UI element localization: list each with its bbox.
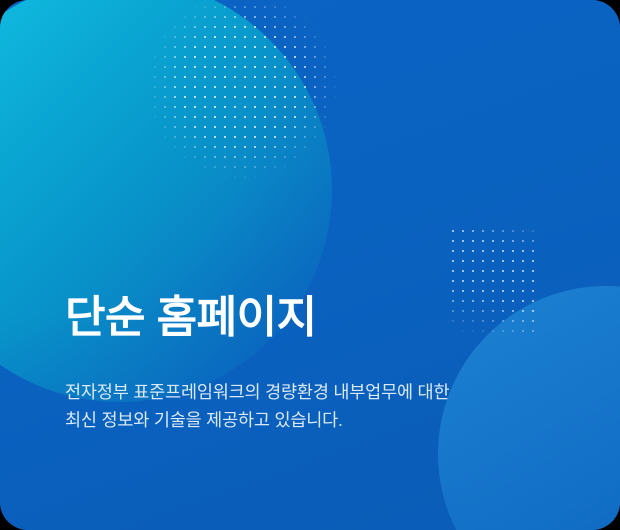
dot-grid-pattern-primary <box>150 2 350 202</box>
page-subtitle: 전자정부 표준프레임워크의 경량환경 내부업무에 대한 최신 정보와 기술을 제… <box>65 344 565 434</box>
page-subtitle-line-1: 전자정부 표준프레임워크의 경량환경 내부업무에 대한 <box>65 378 565 406</box>
page-title: 단순 홈페이지 <box>65 292 575 344</box>
hero-copy: 단순 홈페이지 전자정부 표준프레임워크의 경량환경 내부업무에 대한 최신 정… <box>65 292 575 434</box>
hero-banner: 단순 홈페이지 전자정부 표준프레임워크의 경량환경 내부업무에 대한 최신 정… <box>0 0 620 530</box>
page-subtitle-line-2: 최신 정보와 기술을 제공하고 있습니다. <box>65 406 565 434</box>
